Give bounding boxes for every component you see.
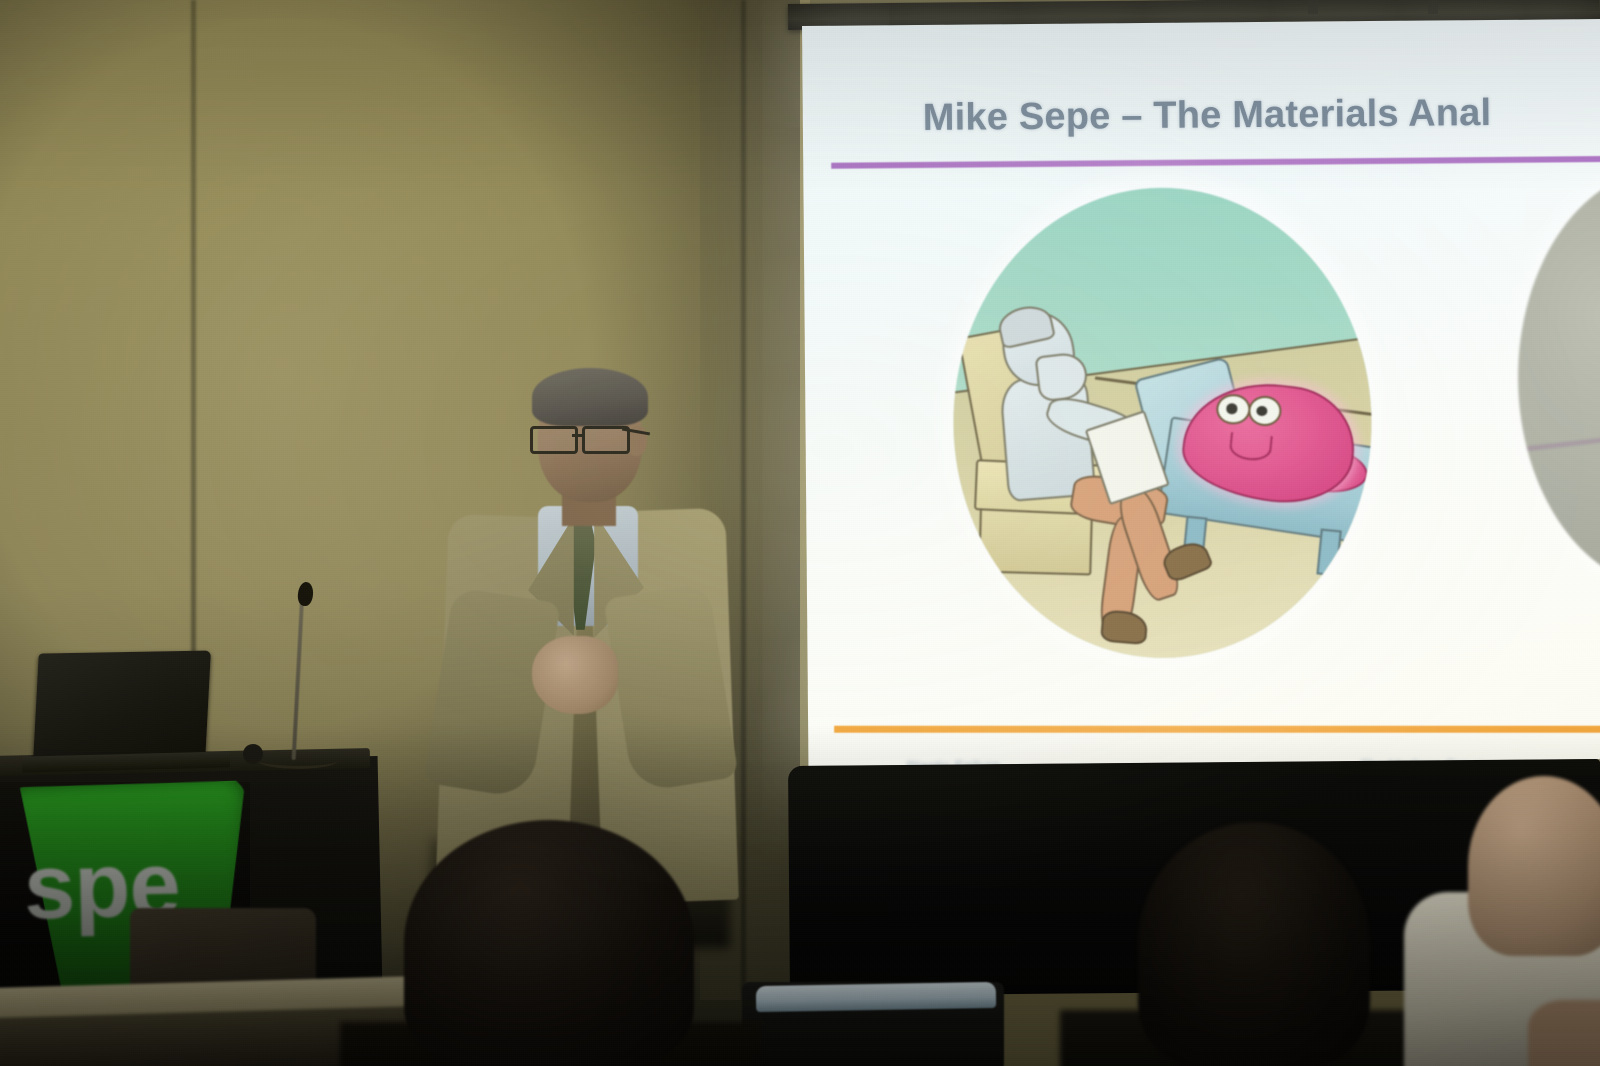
screen-bracket-icon bbox=[1428, 0, 1438, 14]
laptop-screen bbox=[33, 651, 211, 762]
speaker-hair bbox=[532, 368, 648, 426]
eyeglasses-icon bbox=[530, 426, 642, 448]
presentation-slide: Mike Sepe – The Materials Anal bbox=[802, 19, 1600, 766]
slide-rule-orange bbox=[834, 726, 1600, 733]
projection-screen: Mike Sepe – The Materials Anal bbox=[788, 0, 1600, 790]
audience-head-center-right bbox=[1138, 822, 1370, 1066]
audience-arm-far-right bbox=[1528, 1000, 1600, 1066]
cartoon-therapist-and-blob bbox=[951, 186, 1373, 660]
eyeglasses-bridge bbox=[572, 434, 584, 437]
slide-title: Mike Sepe – The Materials Anal bbox=[923, 90, 1600, 140]
audience-head-left bbox=[404, 820, 694, 1066]
screen-bracket-icon bbox=[1308, 0, 1318, 14]
cartoon-blob-pupil bbox=[1227, 403, 1238, 413]
cartoon-couch-leg bbox=[1316, 529, 1341, 577]
eyeglasses-lens-left bbox=[530, 426, 578, 454]
cartoon-second-circle-cropped bbox=[1516, 167, 1600, 590]
screen-surface: Mike Sepe – The Materials Anal bbox=[802, 19, 1600, 766]
projector-top-surface bbox=[756, 982, 996, 1012]
slide-rule-purple bbox=[831, 156, 1600, 169]
cartoon-second-circle-streak bbox=[1516, 407, 1600, 456]
presentation-photo: Mike Sepe – The Materials Anal bbox=[0, 0, 1600, 1066]
speaker-clasped-hands bbox=[532, 636, 618, 714]
